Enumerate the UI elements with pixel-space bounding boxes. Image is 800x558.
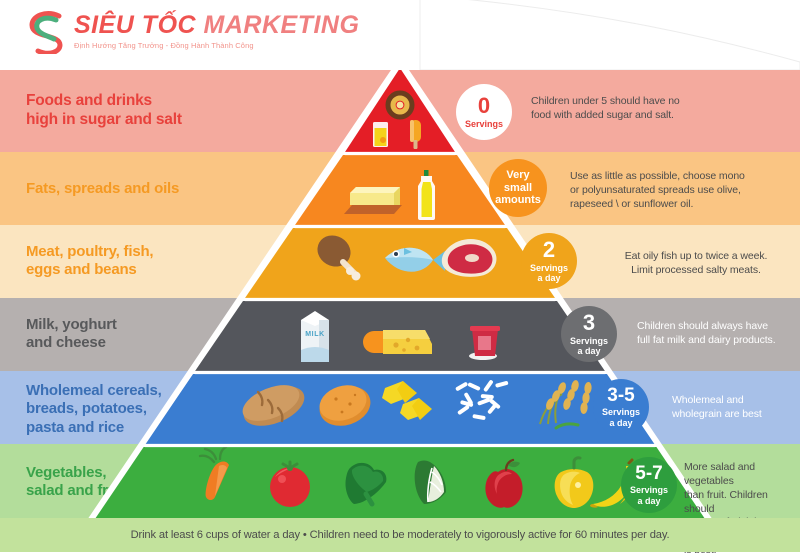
badge-unit: Servings a day [530, 263, 568, 283]
badge-sugar-salt: 0 Servings [456, 84, 512, 140]
note-fats-spreads-oils: Use as little as possible, choose mono o… [570, 170, 795, 212]
badge-cereals-breads-potatoes: 3-5 Servings a day [593, 379, 649, 435]
header-bar: SIÊU TỐC MARKETING Định Hướng Tăng Trưởn… [0, 0, 800, 70]
note-milk-yoghurt-cheese: Children should always have full fat mil… [637, 320, 797, 348]
badge-unit: Servings a day [570, 336, 608, 356]
badge-vegetables-salad-fruit: 5-7 Servings a day [621, 457, 677, 513]
tier-label-sugar-salt: Foods and drinks high in sugar and salt [26, 92, 182, 130]
badge-number: 5-7 [635, 464, 662, 483]
badge-unit: Servings a day [602, 407, 640, 427]
badge-milk-yoghurt-cheese: 3 Servings a day [561, 306, 617, 362]
brand-tagline: Định Hướng Tăng Trưởng - Đồng Hành Thành… [74, 41, 359, 50]
brand-title: SIÊU TỐC MARKETING [74, 13, 359, 38]
footer-text: Drink at least 6 cups of water a day • C… [131, 529, 670, 541]
brand-title-part1: SIÊU TỐC [74, 11, 196, 39]
badge-number: 3 [583, 312, 595, 334]
note-cereals-breads-potatoes: Wholemeal and wholegrain are best [672, 394, 798, 422]
badge-unit: small amounts [495, 182, 541, 207]
badge-fats-spreads-oils: Very small amounts [489, 159, 547, 217]
brand-logo[interactable]: SIÊU TỐC MARKETING Định Hướng Tăng Trưởn… [26, 8, 359, 54]
badge-number: Very [506, 170, 529, 181]
badge-unit: Servings a day [630, 485, 668, 505]
badge-number: 0 [478, 95, 490, 117]
badge-number: 3-5 [607, 386, 634, 405]
tier-label-cereals-breads-potatoes: Wholemeal cereals, breads, potatoes, pas… [26, 382, 162, 437]
tier-label-milk-yoghurt-cheese: Milk, yoghurt and cheese [26, 316, 117, 353]
tier-label-fats-spreads-oils: Fats, spreads and oils [26, 180, 179, 198]
note-meat-poultry-fish: Eat oily fish up to twice a week. Limit … [596, 250, 796, 278]
badge-unit: Servings [465, 119, 503, 129]
note-sugar-salt: Children under 5 should have no food wit… [531, 95, 781, 123]
infographic-root: Foods and drinks high in sugar and salt … [0, 0, 800, 552]
badge-meat-poultry-fish: 2 Servings a day [521, 233, 577, 289]
brand-title-part2: MARKETING [204, 11, 360, 39]
tier-label-vegetables-salad-fruit: Vegetables, salad and fruit [26, 464, 126, 501]
s-swoosh-logo-icon [26, 8, 68, 54]
footer-bar: Drink at least 6 cups of water a day • C… [0, 518, 800, 552]
badge-number: 2 [543, 239, 555, 261]
tier-label-meat-poultry-fish: Meat, poultry, fish, eggs and beans [26, 243, 153, 280]
